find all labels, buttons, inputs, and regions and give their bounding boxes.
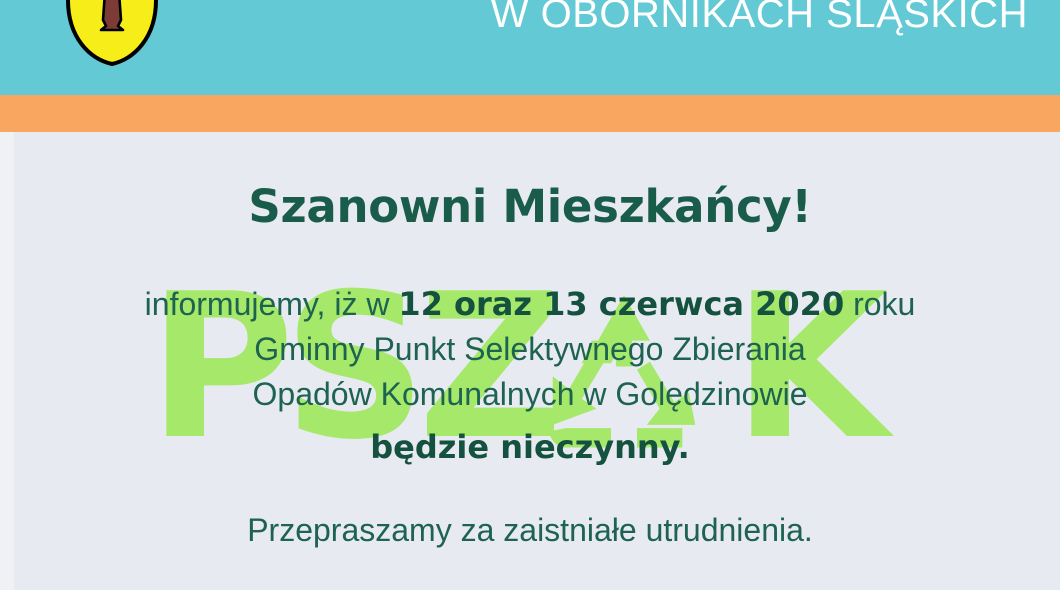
page-title: Szanowni Mieszkańcy!	[0, 132, 1060, 232]
city-title: W OBORNIKACH ŚLĄSKICH	[328, 0, 1028, 38]
closure-status: będzie nieczynny.	[0, 425, 1060, 470]
announcement-body: informujemy, iż w 12 oraz 13 czerwca 202…	[0, 282, 1060, 470]
coat-of-arms-icon	[62, 0, 162, 66]
header-accent-band	[0, 95, 1060, 132]
header-titles: URZĄD MIEJSKI W OBORNIKACH ŚLĄSKICH	[328, 0, 1028, 38]
closure-dates: 12 oraz 13 czerwca 2020	[398, 285, 844, 323]
apology-text: Przepraszamy za zaistniałe utrudnienia.	[0, 508, 1060, 552]
announcement-content: Szanowni Mieszkańcy! informujemy, iż w 1…	[0, 132, 1060, 590]
announcement-line-2: Gminny Punkt Selektywnego Zbierania	[0, 327, 1060, 372]
announcement-poster: URZĄD MIEJSKI W OBORNIKACH ŚLĄSKICH P S …	[0, 0, 1060, 590]
announcement-line-3: Opadów Komunalnych w Golędzinowie	[0, 372, 1060, 417]
line1-suffix: roku	[844, 286, 915, 322]
line1-prefix: informujemy, iż w	[145, 286, 399, 322]
announcement-line-1: informujemy, iż w 12 oraz 13 czerwca 202…	[0, 282, 1060, 327]
page-edge-strip	[0, 132, 14, 590]
